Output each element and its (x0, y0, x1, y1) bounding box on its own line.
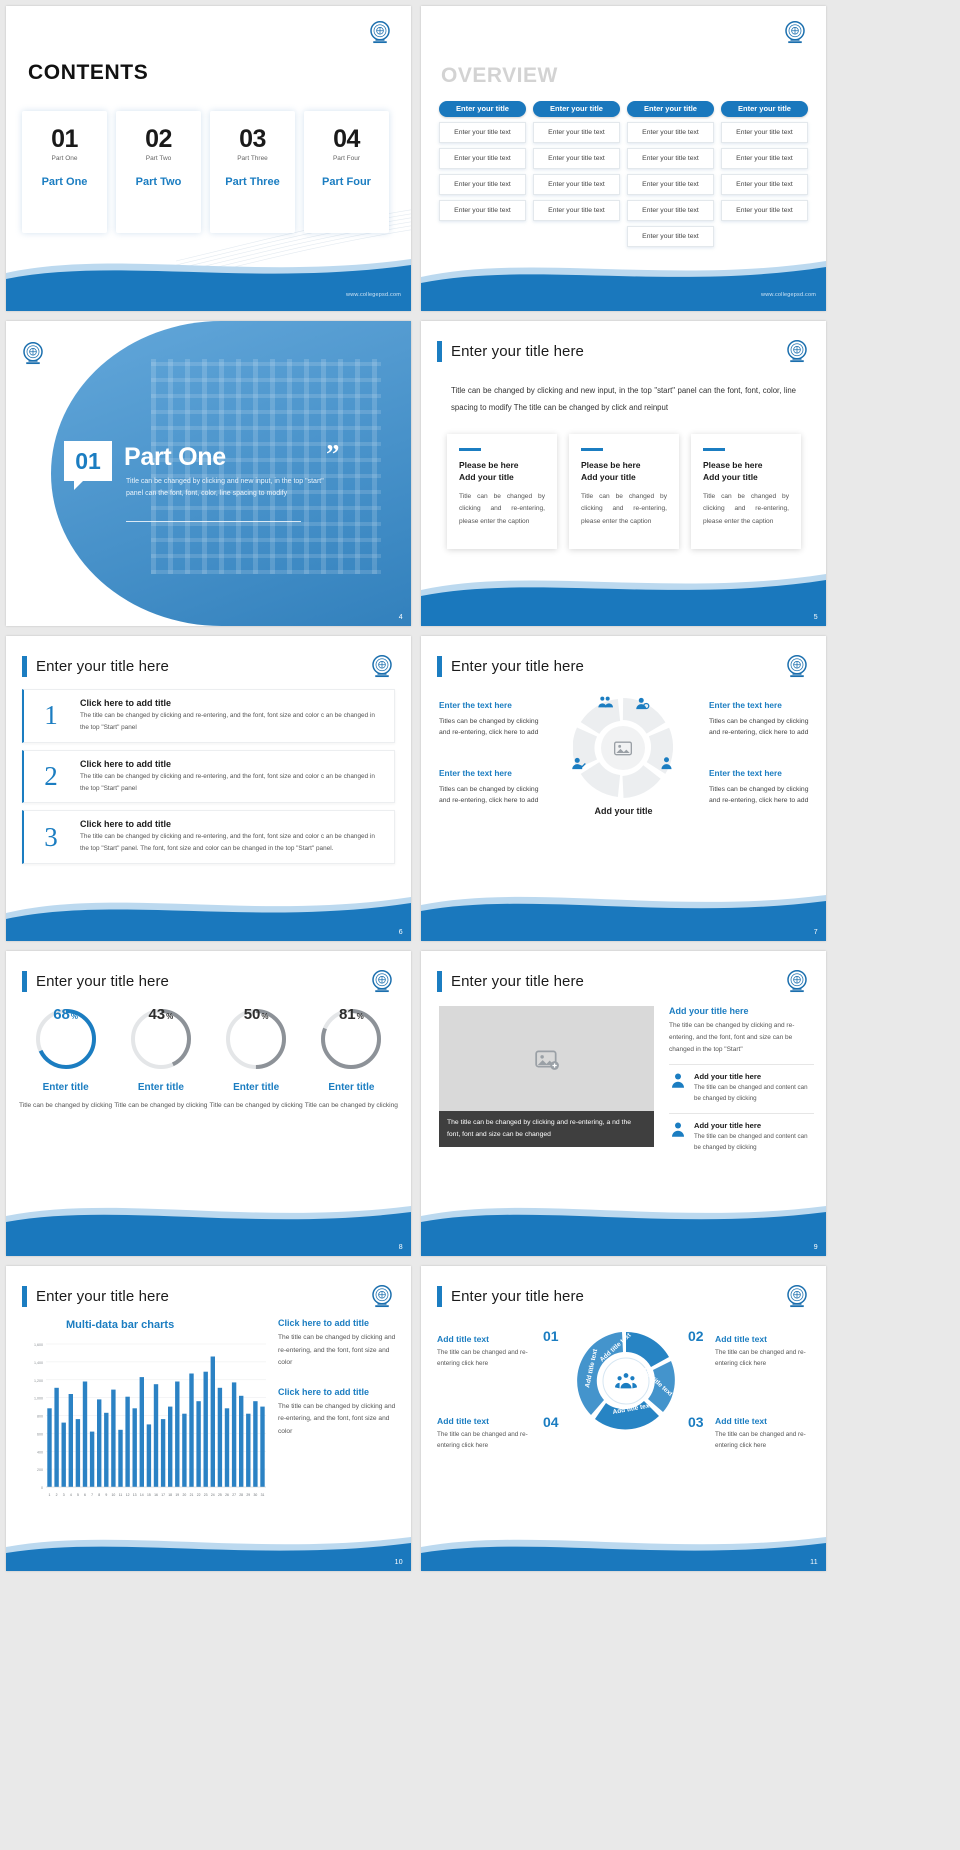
wave-footer (421, 877, 826, 941)
svg-text:200: 200 (37, 1468, 43, 1472)
cell-heading: Add title text (715, 1416, 810, 1426)
wave-footer (421, 1192, 826, 1256)
image-placeholder-icon (613, 738, 633, 758)
percent-ring-item[interactable]: 50%Enter titleTitle can be changed by cl… (209, 1006, 304, 1112)
divider (126, 521, 301, 522)
title-accent-bar (437, 656, 442, 677)
wave-footer (6, 1507, 411, 1571)
svg-text:16: 16 (154, 1493, 158, 1497)
cell-text: The title can be changed and re-entering… (437, 1347, 532, 1370)
overview-column: Enter your titleEnter your title textEnt… (439, 101, 526, 247)
percent-unit: % (357, 1012, 364, 1021)
overview-item[interactable]: Enter your title text (627, 226, 714, 247)
svg-text:4: 4 (70, 1493, 72, 1497)
cycle-chart[interactable]: Add title text Add title text Add title … (571, 1326, 681, 1436)
image-caption: The title can be changed by clicking and… (439, 1111, 654, 1147)
slide-part-one-cover[interactable]: 01 Part One ” Title can be changed by cl… (6, 321, 411, 626)
title-accent-bar (22, 971, 27, 992)
title-accent-bar (437, 1286, 442, 1307)
svg-text:800: 800 (37, 1415, 43, 1419)
list-item-title: Add your title here (694, 1072, 814, 1081)
percent-ring-item[interactable]: 68%Enter titleTitle can be changed by cl… (18, 1006, 113, 1112)
title-text: Enter your title here (36, 973, 169, 990)
percent-ring-item[interactable]: 81%Enter titleTitle can be changed by cl… (304, 1006, 399, 1112)
donut-label-top-right: Enter the text here Titles can be change… (709, 698, 814, 739)
donut-label-top-left: Enter the text here Titles can be change… (439, 698, 544, 739)
feature-card[interactable]: Please be here Add your titleTitle can b… (447, 434, 557, 549)
note-text: The title can be changed by clicking and… (278, 1332, 403, 1370)
feature-card[interactable]: Please be here Add your titleTitle can b… (569, 434, 679, 549)
overview-item[interactable]: Enter your title text (439, 174, 526, 195)
overview-item[interactable]: Enter your title text (533, 200, 620, 221)
overview-item[interactable]: Enter your title text (533, 174, 620, 195)
overview-item[interactable]: Enter your title text (439, 200, 526, 221)
footer-url: www.collegepsd.com (761, 292, 816, 298)
overview-item[interactable]: Enter your title text (721, 122, 808, 143)
block-text: Titles can be changed by clicking and re… (439, 784, 544, 808)
ring-label: Enter title (18, 1082, 113, 1093)
page-number: 10 (395, 1559, 403, 1566)
svg-text:8: 8 (98, 1493, 100, 1497)
svg-text:0: 0 (41, 1486, 43, 1490)
wave-footer (421, 562, 826, 626)
university-emblem-icon (782, 1282, 812, 1312)
overview-item[interactable]: Enter your title text (721, 148, 808, 169)
contents-heading: CONTENTS (28, 61, 148, 85)
progress-ring: 50% (223, 1006, 289, 1072)
card-number: 02 (116, 127, 201, 152)
donut-label-bottom-right: Enter the text here Titles can be change… (709, 766, 814, 807)
cell-heading: Add title text (437, 1334, 532, 1344)
overview-pill-button[interactable]: Enter your title (721, 101, 808, 117)
page-number: 7 (814, 929, 818, 936)
note-heading: Click here to add title (278, 1318, 403, 1328)
progress-ring: 81% (318, 1006, 384, 1072)
page-title: Enter your title here (437, 1286, 584, 1307)
overview-item[interactable]: Enter your title text (721, 200, 808, 221)
svg-text:12: 12 (126, 1493, 130, 1497)
section-title: Part One (124, 443, 226, 472)
svg-text:10: 10 (112, 1493, 116, 1497)
svg-text:1: 1 (49, 1493, 51, 1497)
university-emblem-icon (367, 967, 397, 997)
donut-chart[interactable] (573, 698, 673, 798)
title-text: Enter your title here (36, 1288, 169, 1305)
row-number: 1 (34, 702, 68, 729)
slide-bar-chart[interactable]: Enter your title here Multi-data bar cha… (6, 1266, 411, 1571)
ring-label: Enter title (304, 1082, 399, 1093)
page-title: Enter your title here (22, 1286, 169, 1307)
numbered-row[interactable]: 2Click here to add titleThe title can be… (22, 750, 395, 804)
numbered-row[interactable]: 1Click here to add titleThe title can be… (22, 689, 395, 743)
person-tie-icon (659, 756, 674, 771)
svg-text:28: 28 (239, 1493, 243, 1497)
cell-text: The title can be changed and re-entering… (715, 1429, 810, 1452)
contents-card[interactable]: 04 Part Four Part Four (304, 111, 389, 233)
image-placeholder[interactable] (439, 1006, 654, 1111)
svg-text:3: 3 (63, 1493, 65, 1497)
row-description: The title can be changed by clicking and… (80, 831, 384, 855)
cycle-cell-bottom-left: Add title text The title can be changed … (437, 1416, 532, 1452)
slide-numbered-list[interactable]: Enter your title here 1Click here to add… (6, 636, 411, 941)
overview-heading: OVERVIEW (441, 64, 558, 88)
overview-item[interactable]: Enter your title text (533, 148, 620, 169)
slide-cycle-diagram[interactable]: Enter your title here Add title text The… (421, 1266, 826, 1571)
contents-card[interactable]: 01 Part One Part One (22, 111, 107, 233)
overview-item[interactable]: Enter your title text (439, 148, 526, 169)
card-number: 03 (210, 127, 295, 152)
contents-card[interactable]: 02 Part Two Part Two (116, 111, 201, 233)
block-text: Titles can be changed by clicking and re… (709, 784, 814, 808)
contents-card[interactable]: 03 Part Three Part Three (210, 111, 295, 233)
percent-unit: % (261, 1012, 268, 1021)
cycle-number-03: 03 (688, 1414, 704, 1430)
overview-pill-button[interactable]: Enter your title (439, 101, 526, 117)
card-title: Please be here Add your title (703, 459, 789, 484)
cell-heading: Add title text (437, 1416, 532, 1426)
overview-item[interactable]: Enter your title text (627, 174, 714, 195)
list-item[interactable]: Add your title hereThe title can be chan… (669, 1113, 814, 1154)
card-subtitle: Part One (22, 155, 107, 162)
card-title: Please be here Add your title (581, 459, 667, 484)
title-text: Enter your title here (451, 973, 584, 990)
person-icon (669, 1121, 687, 1154)
wave-footer (421, 1507, 826, 1571)
svg-text:26: 26 (225, 1493, 229, 1497)
card-number: 04 (304, 127, 389, 152)
card-body: Title can be changed by clicking and re-… (703, 491, 789, 528)
page-title: Enter your title here (437, 971, 584, 992)
svg-text:18: 18 (168, 1493, 172, 1497)
numbered-row-list: 1Click here to add titleThe title can be… (22, 689, 395, 864)
quote-mark: ” (326, 439, 340, 470)
card-number: 01 (22, 127, 107, 152)
wave-footer (6, 877, 411, 941)
wave-footer (6, 1192, 411, 1256)
block-text: Titles can be changed by clicking and re… (439, 716, 544, 740)
row-number: 2 (34, 763, 68, 790)
ring-subtext: Title can be changed by clicking (113, 1100, 208, 1112)
list-item-text: The title can be changed and content can… (694, 1132, 814, 1154)
block-text: Titles can be changed by clicking and re… (709, 716, 814, 740)
page-title: Enter your title here (437, 656, 584, 677)
page-number: 4 (399, 614, 403, 621)
title-text: Enter your title here (451, 343, 584, 360)
group-icon (597, 694, 613, 710)
title-text: Enter your title here (451, 1288, 584, 1305)
block-heading: Enter the text here (439, 766, 544, 781)
list-item-text: The title can be changed and content can… (694, 1083, 814, 1105)
chart-side-notes: Click here to add title The title can be… (278, 1318, 403, 1438)
slide-donut-diagram[interactable]: Enter your title here Enter the text her… (421, 636, 826, 941)
title-accent-bar (22, 1286, 27, 1307)
ring-label: Enter title (209, 1082, 304, 1093)
card-accent-dash (581, 448, 603, 451)
overview-column: Enter your titleEnter your title textEnt… (627, 101, 714, 247)
card-subtitle: Part Two (116, 155, 201, 162)
cell-text: The title can be changed and re-entering… (437, 1429, 532, 1452)
svg-text:17: 17 (161, 1493, 165, 1497)
cycle-number-02: 02 (688, 1328, 704, 1344)
svg-text:600: 600 (37, 1432, 43, 1436)
title-text: Enter your title here (36, 658, 169, 675)
overview-item[interactable]: Enter your title text (439, 122, 526, 143)
percent-value: 50 (244, 1006, 261, 1023)
university-emblem-icon (367, 1282, 397, 1312)
svg-text:30: 30 (254, 1493, 258, 1497)
page-title: Enter your title here (22, 656, 169, 677)
progress-ring: 68% (33, 1006, 99, 1072)
slide-percent-rings[interactable]: Enter your title here 68%Enter titleTitl… (6, 951, 411, 1256)
svg-text:400: 400 (37, 1450, 43, 1454)
row-title: Click here to add title (80, 698, 384, 708)
page-number: 9 (814, 1244, 818, 1251)
row-description: The title can be changed by clicking and… (80, 771, 384, 795)
overview-column: Enter your titleEnter your title textEnt… (721, 101, 808, 247)
side-paragraph: The title can be changed by clicking and… (669, 1020, 814, 1056)
page-number: 5 (814, 614, 818, 621)
feature-card[interactable]: Please be here Add your titleTitle can b… (691, 434, 801, 549)
cycle-cell-top-right: Add title text The title can be changed … (715, 1334, 810, 1370)
title-accent-bar (22, 656, 27, 677)
ring-label: Enter title (113, 1082, 208, 1093)
list-item-title: Add your title here (694, 1121, 814, 1130)
card-label: Part One (22, 176, 107, 188)
svg-text:6: 6 (84, 1493, 86, 1497)
overview-columns: Enter your titleEnter your title textEnt… (439, 101, 808, 247)
card-label: Part Four (304, 176, 389, 188)
svg-text:27: 27 (232, 1493, 236, 1497)
cell-text: The title can be changed and re-entering… (715, 1347, 810, 1370)
page-number: 6 (399, 929, 403, 936)
numbered-row[interactable]: 3Click here to add titleThe title can be… (22, 810, 395, 864)
card-label: Part Two (116, 176, 201, 188)
svg-text:1,600: 1,600 (34, 1343, 43, 1347)
card-subtitle: Part Four (304, 155, 389, 162)
svg-text:2: 2 (56, 1493, 58, 1497)
feature-card-list: Please be here Add your titleTitle can b… (447, 434, 801, 549)
university-emblem-icon (780, 18, 810, 48)
slide-image-and-list[interactable]: Enter your title here The title can be c… (421, 951, 826, 1256)
svg-text:22: 22 (197, 1493, 201, 1497)
svg-text:25: 25 (218, 1493, 222, 1497)
percent-value: 68 (53, 1006, 70, 1023)
page-number: 11 (810, 1559, 818, 1566)
donut-caption: Add your title (571, 806, 676, 816)
svg-text:14: 14 (140, 1493, 144, 1497)
overview-pill-button[interactable]: Enter your title (627, 101, 714, 117)
cycle-number-01: 01 (543, 1328, 559, 1344)
svg-text:7: 7 (91, 1493, 93, 1497)
percent-ring-item[interactable]: 43%Enter titleTitle can be changed by cl… (113, 1006, 208, 1112)
svg-text:1,200: 1,200 (34, 1379, 43, 1383)
university-emblem-icon (365, 18, 395, 48)
percent-value: 81 (339, 1006, 356, 1023)
contents-card-list: 01 Part One Part One 02 Part Two Part Tw… (22, 111, 389, 233)
note-text: The title can be changed by clicking and… (278, 1401, 403, 1439)
card-label: Part Three (210, 176, 295, 188)
overview-item[interactable]: Enter your title text (627, 148, 714, 169)
block-heading: Enter the text here (709, 698, 814, 713)
row-number: 3 (34, 824, 68, 851)
block-heading: Enter the text here (439, 698, 544, 713)
cycle-number-04: 04 (543, 1414, 559, 1430)
overview-item[interactable]: Enter your title text (627, 200, 714, 221)
svg-text:1,000: 1,000 (34, 1397, 43, 1401)
row-title: Click here to add title (80, 759, 384, 769)
slide-overview[interactable]: OVERVIEW Enter your titleEnter your titl… (421, 6, 826, 311)
svg-text:11: 11 (119, 1493, 123, 1497)
percent-unit: % (71, 1012, 78, 1021)
page-number: 8 (399, 1244, 403, 1251)
overview-pill-button[interactable]: Enter your title (533, 101, 620, 117)
page-title: Enter your title here (437, 341, 584, 362)
svg-text:23: 23 (204, 1493, 208, 1497)
wave-footer (421, 247, 826, 311)
card-title: Please be here Add your title (459, 459, 545, 484)
svg-text:29: 29 (246, 1493, 250, 1497)
university-emblem-icon (782, 967, 812, 997)
title-accent-bar (437, 971, 442, 992)
section-number-badge: 01 (64, 441, 112, 481)
ring-subtext: Title can be changed by clicking (209, 1100, 304, 1112)
progress-ring: 43% (128, 1006, 194, 1072)
overview-item[interactable]: Enter your title text (533, 122, 620, 143)
group-icon (615, 1370, 637, 1392)
card-accent-dash (703, 448, 725, 451)
donut-label-bottom-left: Enter the text here Titles can be change… (439, 766, 544, 807)
footer-url: www.collegepsd.com (346, 292, 401, 298)
university-emblem-icon (18, 339, 48, 369)
title-text: Enter your title here (451, 658, 584, 675)
side-heading: Add your title here (669, 1006, 814, 1016)
svg-text:9: 9 (105, 1493, 107, 1497)
percent-unit: % (166, 1012, 173, 1021)
svg-text:21: 21 (190, 1493, 194, 1497)
svg-text:15: 15 (147, 1493, 151, 1497)
svg-text:13: 13 (133, 1493, 137, 1497)
title-accent-bar (437, 341, 442, 362)
person-check-icon (571, 756, 586, 771)
svg-text:24: 24 (211, 1493, 215, 1497)
slide-three-cards[interactable]: Enter your title here Title can be chang… (421, 321, 826, 626)
svg-text:5: 5 (77, 1493, 79, 1497)
percent-value: 43 (148, 1006, 165, 1023)
multi-data-bar-chart[interactable]: 02004006008001,0001,2001,4001,6001234567… (20, 1338, 270, 1503)
page-title: Enter your title here (22, 971, 169, 992)
row-description: The title can be changed by clicking and… (80, 710, 384, 734)
percent-ring-list: 68%Enter titleTitle can be changed by cl… (18, 1006, 399, 1112)
university-emblem-icon (782, 337, 812, 367)
svg-text:1,400: 1,400 (34, 1361, 43, 1365)
ring-subtext: Title can be changed by clicking (18, 1100, 113, 1112)
svg-text:20: 20 (183, 1493, 187, 1497)
slide-thumbnail-grid: CONTENTS 01 Part One Part One 02 Part Tw… (0, 0, 960, 1577)
card-accent-dash (459, 448, 481, 451)
university-emblem-icon (367, 652, 397, 682)
slide-contents[interactable]: CONTENTS 01 Part One Part One 02 Part Tw… (6, 6, 411, 311)
card-body: Title can be changed by clicking and re-… (581, 491, 667, 528)
card-subtitle: Part Three (210, 155, 295, 162)
overview-item[interactable]: Enter your title text (627, 122, 714, 143)
section-description: Title can be changed by clicking and new… (126, 476, 341, 501)
cycle-cell-top-left: Add title text The title can be changed … (437, 1334, 532, 1370)
cell-heading: Add title text (715, 1334, 810, 1344)
block-heading: Enter the text here (709, 766, 814, 781)
university-emblem-icon (782, 652, 812, 682)
overview-column: Enter your titleEnter your title textEnt… (533, 101, 620, 247)
image-placeholder-icon (534, 1046, 560, 1072)
note-heading: Click here to add title (278, 1387, 403, 1397)
chart-title: Multi-data bar charts (66, 1319, 174, 1331)
ring-subtext: Title can be changed by clicking (304, 1100, 399, 1112)
row-title: Click here to add title (80, 819, 384, 829)
person-icon (669, 1072, 687, 1105)
svg-text:31: 31 (261, 1493, 265, 1497)
side-content: Add your title here The title can be cha… (669, 1006, 814, 1153)
svg-text:19: 19 (175, 1493, 179, 1497)
intro-paragraph: Title can be changed by clicking and new… (451, 383, 796, 417)
cycle-cell-bottom-right: Add title text The title can be changed … (715, 1416, 810, 1452)
list-item[interactable]: Add your title hereThe title can be chan… (669, 1064, 814, 1105)
overview-item[interactable]: Enter your title text (721, 174, 808, 195)
card-body: Title can be changed by clicking and re-… (459, 491, 545, 528)
person-search-icon (635, 696, 650, 711)
